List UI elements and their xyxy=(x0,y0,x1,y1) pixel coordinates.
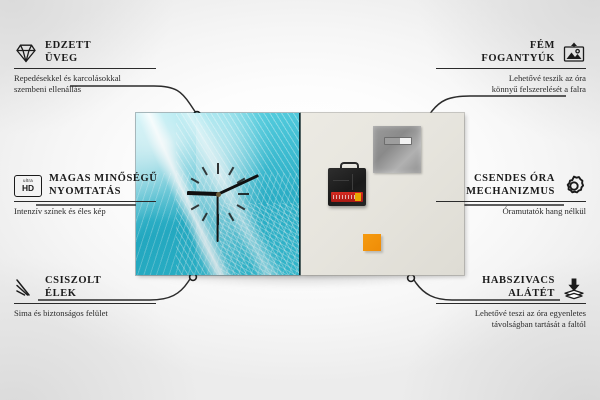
callout-metal-handles: FÉM FOGANTYÚK Lehetővé teszik az óra kön… xyxy=(396,40,586,94)
battery xyxy=(331,192,363,202)
callout-description: Óramutatók hang nélkül xyxy=(396,206,586,217)
ultra-hd-badge-icon: ultra HD xyxy=(14,175,42,197)
callout-divider xyxy=(14,303,156,304)
gear-icon xyxy=(562,174,586,198)
diamond-icon xyxy=(14,41,38,65)
quartz-mechanism xyxy=(328,168,366,206)
infographic-canvas: EDZETT ÜVEG Repedésekkel és karcolásokka… xyxy=(0,0,600,400)
callout-divider xyxy=(436,201,586,202)
callout-description: Repedésekkel és karcolásokkal szembeni e… xyxy=(14,73,204,94)
callout-divider xyxy=(436,303,586,304)
polished-edges-icon xyxy=(14,276,38,300)
callout-title: CSENDES ÓRA MECHANIZMUS xyxy=(466,173,555,198)
callout-description: Intenzív színek és éles kép xyxy=(14,206,204,217)
callout-title: MAGAS MINŐSÉGŰ NYOMTATÁS xyxy=(49,173,157,198)
callout-description: Lehetővé teszi az óra egyenletes távolsá… xyxy=(396,308,586,329)
callout-description: Sima és biztonságos felület xyxy=(14,308,204,319)
callout-title: CSISZOLT ÉLEK xyxy=(45,275,101,300)
callout-divider xyxy=(14,68,156,69)
badge-hd-label: HD xyxy=(22,184,34,192)
callout-high-quality-print: ultra HD MAGAS MINŐSÉGŰ NYOMTATÁS Intenz… xyxy=(14,173,204,217)
callout-title: EDZETT ÜVEG xyxy=(45,40,91,65)
callout-tempered-glass: EDZETT ÜVEG Repedésekkel és karcolásokka… xyxy=(14,40,204,94)
callout-title: FÉM FOGANTYÚK xyxy=(481,40,555,65)
picture-hanger-icon xyxy=(562,41,586,65)
metal-hanger-plate xyxy=(373,126,421,173)
callout-title: HABSZIVACS ALÁTÉT xyxy=(482,275,555,300)
hanger-slot xyxy=(384,137,412,145)
callout-silent-mechanism: CSENDES ÓRA MECHANIZMUS Óramutatók hang … xyxy=(396,173,586,217)
callout-description: Lehetővé teszik az óra könnyű felszerelé… xyxy=(396,73,586,94)
clock-second-hand xyxy=(217,194,219,242)
clock-center-cap xyxy=(216,192,221,197)
mechanism-body xyxy=(328,168,366,206)
callout-divider xyxy=(14,201,156,202)
callout-foam-pad: HABSZIVACS ALÁTÉT Lehetővé teszi az óra … xyxy=(396,275,586,329)
callout-polished-edges: CSISZOLT ÉLEK Sima és biztonságos felüle… xyxy=(14,275,204,319)
foam-pad xyxy=(363,234,381,251)
foam-pad-arrow-icon xyxy=(562,276,586,300)
callout-divider xyxy=(436,68,586,69)
